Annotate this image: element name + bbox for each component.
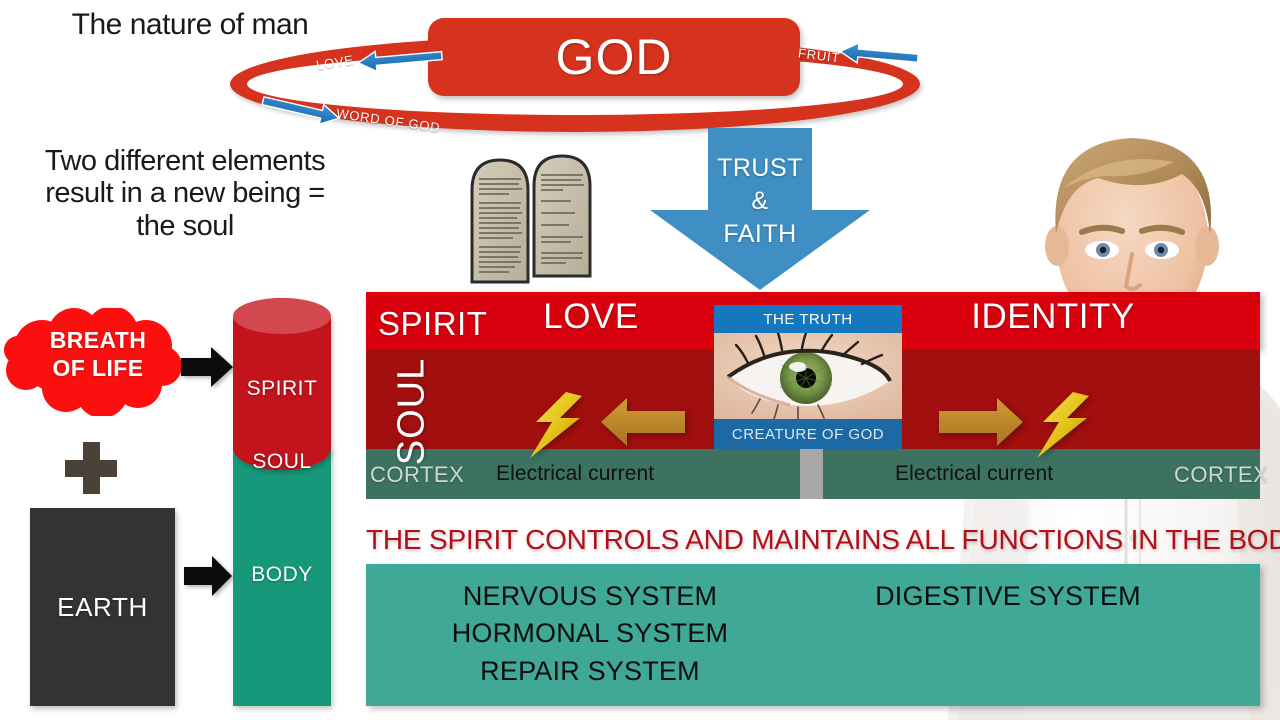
cylinder-label-body: BODY [233,563,331,587]
earth-to-cylinder-arrow-icon [184,554,234,598]
cylinder-label-soul: SOUL [233,450,331,474]
subtitle-two-elements: Two different elements result in a new b… [10,145,360,242]
breath-of-life-cloud [2,308,194,416]
band-label-love: LOVE [531,297,651,337]
cylinder-label-spirit: SPIRIT [233,377,331,401]
band-label-identity: IDENTITY [963,297,1143,337]
stone-tablets-icon [462,150,672,288]
fruit-arrow-icon [840,42,922,68]
lightning-bolt-left-icon [528,392,584,458]
word-of-god-arrow-icon [262,96,344,124]
cortex-label-left: CORTEX [370,462,464,488]
lightning-bolt-right-icon [1035,392,1091,458]
god-label-box: GOD [428,18,800,96]
the-truth-label: THE TRUTH [763,311,852,328]
gold-arrow-right-icon [937,396,1023,448]
plus-icon [63,440,119,496]
earth-label: EARTH [57,592,148,623]
electrical-current-label-right: Electrical current [895,462,1053,486]
spinal-column-bar [800,449,823,499]
systems-list-left: NERVOUS SYSTEM HORMONAL SYSTEM REPAIR SY… [400,578,780,690]
slide-canvas: The nature of man Two different elements… [0,0,1280,720]
breath-to-cylinder-arrow-icon [181,345,235,389]
creature-of-god-label: CREATURE OF GOD [732,426,884,443]
the-truth-bar: THE TRUTH [714,305,902,333]
earth-box: EARTH [30,508,175,706]
god-label: GOD [556,28,673,86]
human-eye-photo [714,333,902,419]
systems-list-right: DIGESTIVE SYSTEM [818,578,1198,615]
cortex-label-right: CORTEX [1174,462,1268,488]
love-arrow-icon [358,46,448,72]
page-title: The nature of man [40,8,340,42]
gold-arrow-left-icon [601,396,687,448]
headline-spirit-controls: THE SPIRIT CONTROLS AND MAINTAINS ALL FU… [366,524,1260,556]
creature-of-god-bar: CREATURE OF GOD [714,419,902,449]
electrical-current-label-left: Electrical current [496,462,654,486]
trust-and-faith-arrow-icon [650,128,870,290]
cylinder-top-ellipse [233,298,331,334]
